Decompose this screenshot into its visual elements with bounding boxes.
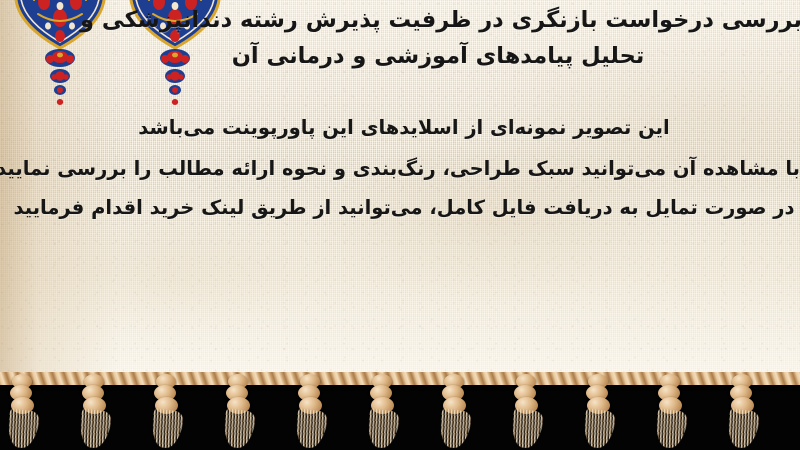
fringe-tassel — [4, 374, 42, 446]
body-line-1: این تصویر نمونه‌ای از اسلایدهای این پاور… — [8, 108, 800, 147]
fringe-tassel — [292, 374, 330, 446]
fringe-tassel — [508, 374, 546, 446]
carpet-fringe-band — [0, 372, 800, 450]
fringe-tassel — [580, 374, 618, 446]
fringe-tassel — [220, 374, 258, 446]
body-line-2: با مشاهده آن می‌توانید سبک طراحی، رنگ‌بن… — [8, 149, 800, 188]
slide-body: این تصویر نمونه‌ای از اسلایدهای این پاور… — [0, 108, 800, 227]
slide-canvas: بررسی درخواست بازنگری در ظرفیت پذیرش رشت… — [0, 0, 800, 450]
fringe-tassel — [436, 374, 474, 446]
fringe-tassel — [652, 374, 690, 446]
fringe-tassel — [364, 374, 402, 446]
fringe-tassel — [724, 374, 762, 446]
fringe-tassel — [76, 374, 114, 446]
slide-title: بررسی درخواست بازنگری در ظرفیت پذیرش رشت… — [0, 2, 800, 74]
title-line-1: بررسی درخواست بازنگری در ظرفیت پذیرش رشت… — [0, 2, 800, 38]
body-line-3: در صورت تمایل به دریافت فایل کامل، می‌تو… — [8, 188, 800, 227]
title-line-2: تحلیل پیامدهای آموزشی و درمانی آن — [0, 38, 800, 74]
slide-text-layer: بررسی درخواست بازنگری در ظرفیت پذیرش رشت… — [0, 0, 800, 382]
fringe-tassel — [148, 374, 186, 446]
